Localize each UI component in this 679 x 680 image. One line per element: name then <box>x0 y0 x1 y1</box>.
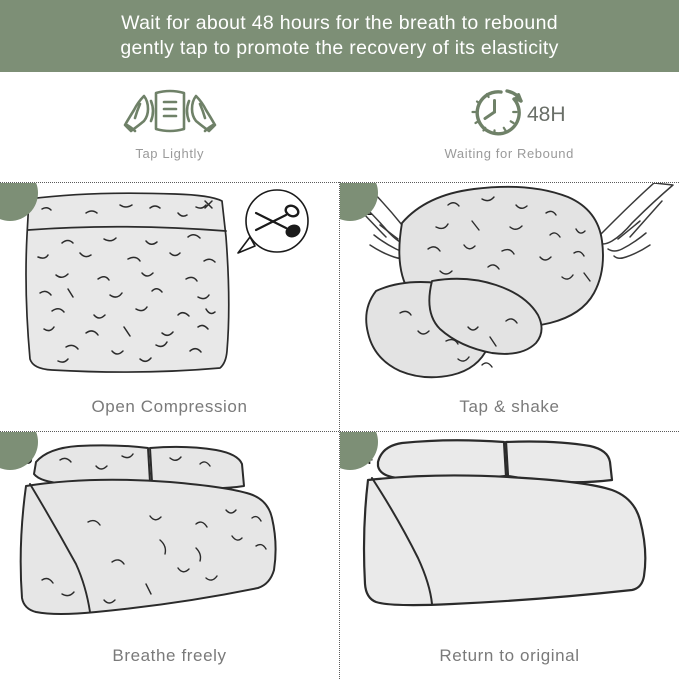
step-panel-2: 2 <box>340 183 679 431</box>
icon-strip: Tap Lightly <box>0 72 679 182</box>
illustration-return-to-original <box>340 432 679 637</box>
step-caption-3: Breathe freely <box>0 646 339 666</box>
step-caption-1: Open Compression <box>0 397 339 417</box>
clock-badge-text: 48H <box>527 103 566 126</box>
step-panel-1: 1 <box>0 183 339 431</box>
header-line-1: Wait for about 48 hours for the breath t… <box>121 11 558 36</box>
header-banner: Wait for about 48 hours for the breath t… <box>0 0 679 72</box>
step-panel-4: 4 Return to original <box>340 432 679 680</box>
icon-cell-tap-lightly: Tap Lightly <box>0 72 340 182</box>
icon-cell-waiting-rebound: 48H Waiting for Rebound <box>340 72 679 182</box>
illustration-tap-and-shake <box>340 183 679 388</box>
illustration-breathe-freely <box>0 432 339 637</box>
tapping-hands-icon <box>114 85 226 137</box>
step-caption-2: Tap & shake <box>340 397 679 417</box>
infographic-page: Wait for about 48 hours for the breath t… <box>0 0 679 679</box>
step-caption-4: Return to original <box>340 646 679 666</box>
step-panel-3: 3 <box>0 432 339 680</box>
illustration-open-compression <box>0 183 339 388</box>
icon-label-waiting-rebound: Waiting for Rebound <box>445 146 574 161</box>
clock-48h-icon: 48H <box>444 85 574 137</box>
icon-label-tap-lightly: Tap Lightly <box>135 146 204 161</box>
header-line-2: gently tap to promote the recovery of it… <box>120 36 558 61</box>
